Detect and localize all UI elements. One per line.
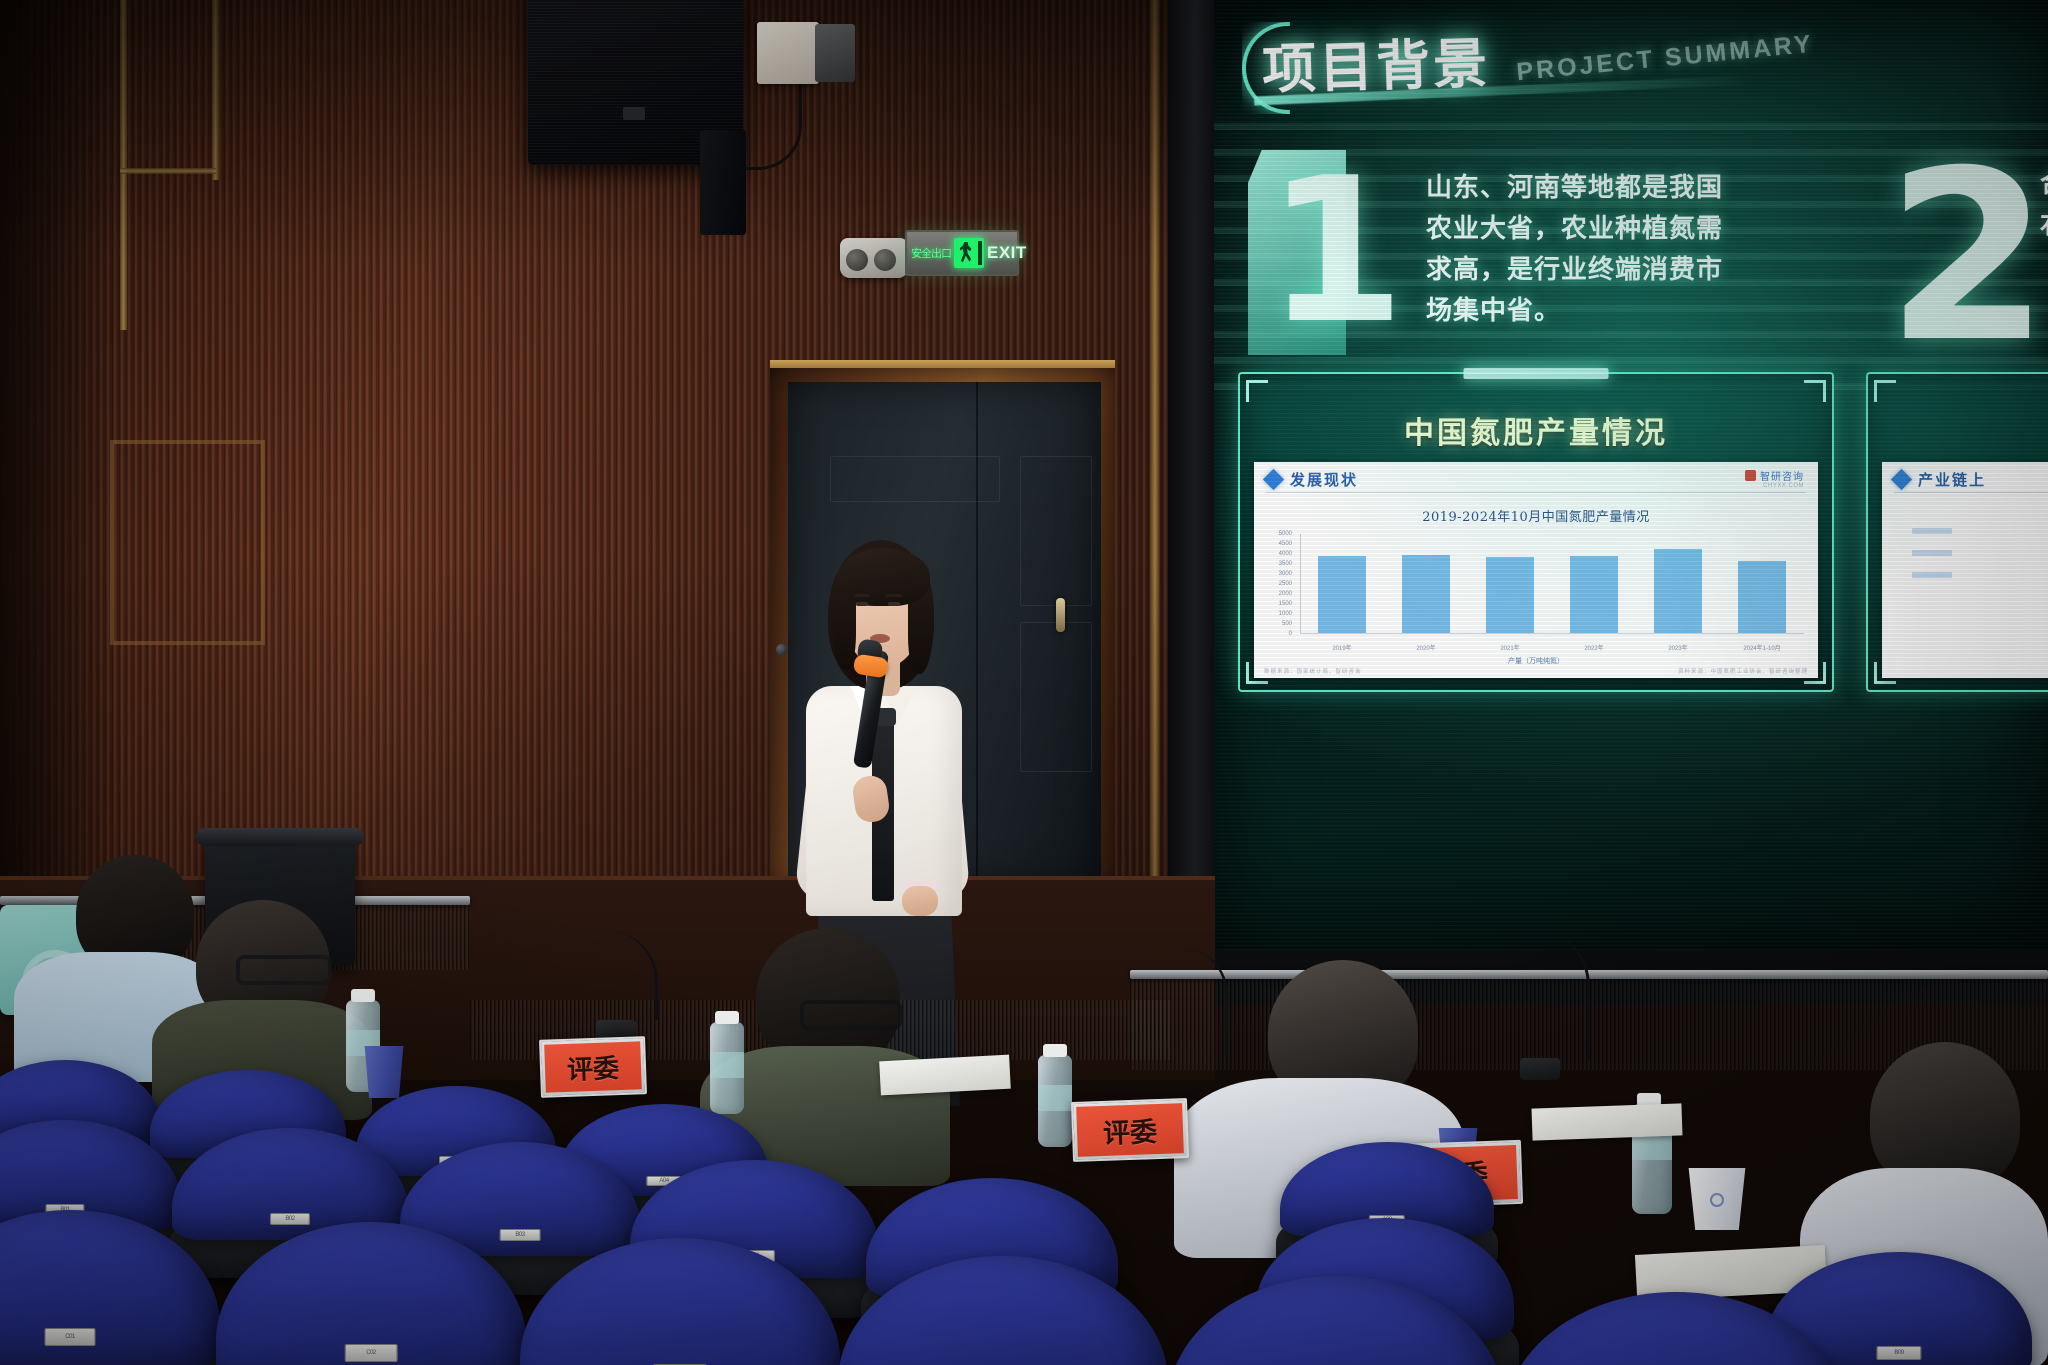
report-logo-mark	[1745, 470, 1756, 481]
report-brand-cn: 智研咨询	[1760, 468, 1804, 483]
report-brand-en: CHYXX.COM	[1760, 483, 1804, 489]
seat-number-plate: C01	[45, 1328, 96, 1346]
chart-bar	[1402, 555, 1450, 633]
chart-bar	[1654, 549, 1702, 633]
report-section-header-2: 产业链上	[1894, 469, 1986, 490]
card-corner	[1246, 380, 1268, 402]
chart-source-right: 资料来源：中国氮肥工业协会、智研咨询整理	[1678, 667, 1808, 675]
chart-y-tick: 1000	[1258, 611, 1292, 617]
door-handle[interactable]	[1056, 598, 1065, 632]
auditorium-seat[interactable]: C06	[1504, 1292, 1848, 1365]
auditorium-seat[interactable]: C05	[1168, 1276, 1504, 1365]
chart-x-tick: 2020年	[1402, 643, 1450, 652]
slide-card-chart: 中国氮肥产量情况 发展现状 智研咨询 CHYXX.COM 2019-2024年1…	[1238, 372, 1834, 692]
placeholder-line	[1912, 550, 1952, 556]
chart-bar	[1570, 556, 1618, 633]
chart-x-tick: 2022年	[1570, 643, 1618, 652]
seat-back	[1168, 1276, 1504, 1365]
paper-cup-white	[1684, 1168, 1750, 1230]
report-section-header: 发展现状	[1266, 469, 1358, 490]
card-1-title: 中国氮肥产量情况	[1240, 408, 1832, 452]
auditorium-seat[interactable]: C04	[838, 1256, 1168, 1365]
embedded-report-slide: 发展现状 智研咨询 CHYXX.COM 2019-2024年10月中国氮肥产量情…	[1254, 462, 1818, 678]
presenter-eyebrow-left	[854, 594, 870, 597]
wall-plate	[757, 22, 819, 84]
placeholder-line	[1912, 528, 1952, 534]
diamond-bullet-icon	[1891, 469, 1912, 490]
card-notch	[1464, 368, 1609, 379]
chart-legend: 产量（万吨纯氮）	[1254, 656, 1818, 666]
placeholder-line	[1912, 572, 1952, 578]
chart-title: 2019-2024年10月中国氮肥产量情况	[1254, 506, 1818, 525]
report-header-rule	[1266, 492, 1806, 493]
seat-back	[838, 1256, 1168, 1365]
door-knob[interactable]	[776, 644, 787, 655]
chart-x-tick: 2023年	[1654, 643, 1702, 652]
judge-nameplate: 评委	[1071, 1098, 1189, 1162]
chart-x-tick: 2021年	[1486, 643, 1534, 652]
water-bottle	[1038, 1055, 1072, 1147]
seat-back	[0, 1210, 220, 1365]
bottle-cap	[351, 989, 375, 1002]
chart-y-tick: 4500	[1258, 541, 1292, 547]
slide-card-supply-chain: 产业链上	[1866, 372, 2048, 692]
bar-chart-plot-area: 5000450040003500300025002000150010005000	[1300, 534, 1804, 634]
nameplate-text: 评委	[1102, 1110, 1157, 1151]
chart-bar-column	[1654, 534, 1702, 633]
running-person-icon	[954, 238, 984, 268]
chart-y-tick: 4000	[1258, 551, 1292, 557]
chart-y-axis: 5000450040003500300025002000150010005000	[1258, 534, 1298, 634]
report-section-label: 发展现状	[1290, 469, 1358, 490]
nameplate-face: 评委	[1076, 1103, 1184, 1157]
chart-bar-column	[1486, 534, 1534, 633]
report-placeholder-lines	[1912, 528, 1952, 594]
presenter-eyebrow-right	[886, 594, 902, 597]
exit-sign-label-cn: 安全出口	[911, 245, 951, 261]
chart-y-tick: 5000	[1258, 531, 1292, 537]
chart-bar-column	[1318, 534, 1366, 633]
eyeglasses-icon	[800, 1000, 902, 1030]
exit-sign-label-en: EXIT	[987, 243, 1027, 263]
chart-y-tick: 3500	[1258, 561, 1292, 567]
door-panel-emboss	[830, 456, 1000, 502]
report-header-rule-2	[1894, 492, 2048, 493]
bottle-label	[1038, 1085, 1072, 1111]
chart-source-left: 数据来源：国家统计局、智研咨询	[1264, 667, 1362, 675]
chart-bar-column	[1738, 534, 1786, 633]
chart-x-tick: 2024年1-10月	[1738, 643, 1786, 652]
chart-y-tick: 1500	[1258, 601, 1292, 607]
presenter-eye-right	[888, 602, 900, 606]
report-brand: 智研咨询 CHYXX.COM	[1760, 468, 1804, 489]
papers-on-desk	[879, 1055, 1011, 1096]
seat-number-plate: C02	[345, 1344, 398, 1362]
chart-bar	[1318, 556, 1366, 633]
seat-back	[520, 1238, 840, 1365]
presenter-eye-left	[856, 602, 868, 606]
nameplate-face: 评委	[544, 1041, 642, 1092]
exit-sign: 安全出口 EXIT	[905, 230, 1019, 276]
nameplate-text: 评委	[566, 1048, 619, 1087]
embedded-report-slide-2: 产业链上	[1882, 462, 2048, 678]
bullet-2-text: 合成之一料中右。	[2040, 164, 2048, 246]
microphone-base	[1520, 1058, 1560, 1080]
report-section-label-2: 产业链上	[1918, 469, 1986, 490]
chart-bars	[1300, 534, 1804, 633]
speaker-mount-bracket	[700, 130, 746, 235]
chart-y-tick: 3000	[1258, 571, 1292, 577]
speaker-logo	[623, 107, 645, 120]
bullet-2-number: 2	[1886, 140, 2048, 375]
chart-y-tick: 0	[1258, 631, 1292, 637]
chart-y-tick: 500	[1258, 621, 1292, 627]
diamond-bullet-icon	[1263, 469, 1284, 490]
chart-bar	[1486, 557, 1534, 633]
auditorium-presentation-scene: 安全出口 EXIT 项目背景 PROJECT SUMMARY 1 山东、河南等地…	[0, 0, 2048, 1365]
presenter-hair-top	[838, 548, 930, 606]
auditorium-seat[interactable]: C01	[0, 1210, 220, 1365]
chart-y-tick: 2000	[1258, 591, 1292, 597]
chart-x-labels: 2019年2020年2021年2022年2023年2024年1-10月	[1300, 643, 1804, 652]
chart-bar-column	[1402, 534, 1450, 633]
emergency-light	[840, 238, 908, 278]
card-corner	[1874, 380, 1896, 402]
auditorium-seat[interactable]: C03	[520, 1238, 840, 1365]
chart-x-tick: 2019年	[1318, 643, 1366, 652]
eyeglasses-icon	[236, 955, 332, 985]
bottle-cap	[715, 1011, 739, 1024]
bullet-1-text: 山东、河南等地都是我国农业大省，农业种植氮需求高，是行业终端消费市场集中省。	[1426, 168, 1738, 332]
office-chair-headrest	[196, 828, 364, 846]
bottle-cap	[1043, 1044, 1067, 1057]
chart-y-tick: 2500	[1258, 581, 1292, 587]
wall-plate-dark	[815, 24, 855, 82]
door-panel-emboss	[1020, 456, 1092, 606]
papers-on-desk	[1531, 1103, 1682, 1140]
chart-bar	[1738, 561, 1786, 633]
bullet-1-number: 1	[1266, 152, 1405, 352]
screen-bezel	[1168, 0, 1214, 1004]
bottle-label	[1632, 1134, 1672, 1160]
chart-axis-horizontal	[1300, 633, 1804, 634]
water-bottle	[710, 1022, 744, 1114]
chart-bar-column	[1570, 534, 1618, 633]
projection-screen: 项目背景 PROJECT SUMMARY 1 山东、河南等地都是我国农业大省，农…	[1214, 0, 2048, 950]
door-panel-emboss	[1020, 622, 1092, 772]
card-corner	[1804, 380, 1826, 402]
bottle-label	[710, 1052, 744, 1078]
auditorium-seat[interactable]: C02	[216, 1222, 526, 1365]
seat-back	[1504, 1292, 1848, 1365]
seat-number-plate: B09	[1876, 1346, 1921, 1360]
cup-logo-icon	[1710, 1193, 1724, 1207]
presenter-hand-right	[902, 886, 938, 916]
